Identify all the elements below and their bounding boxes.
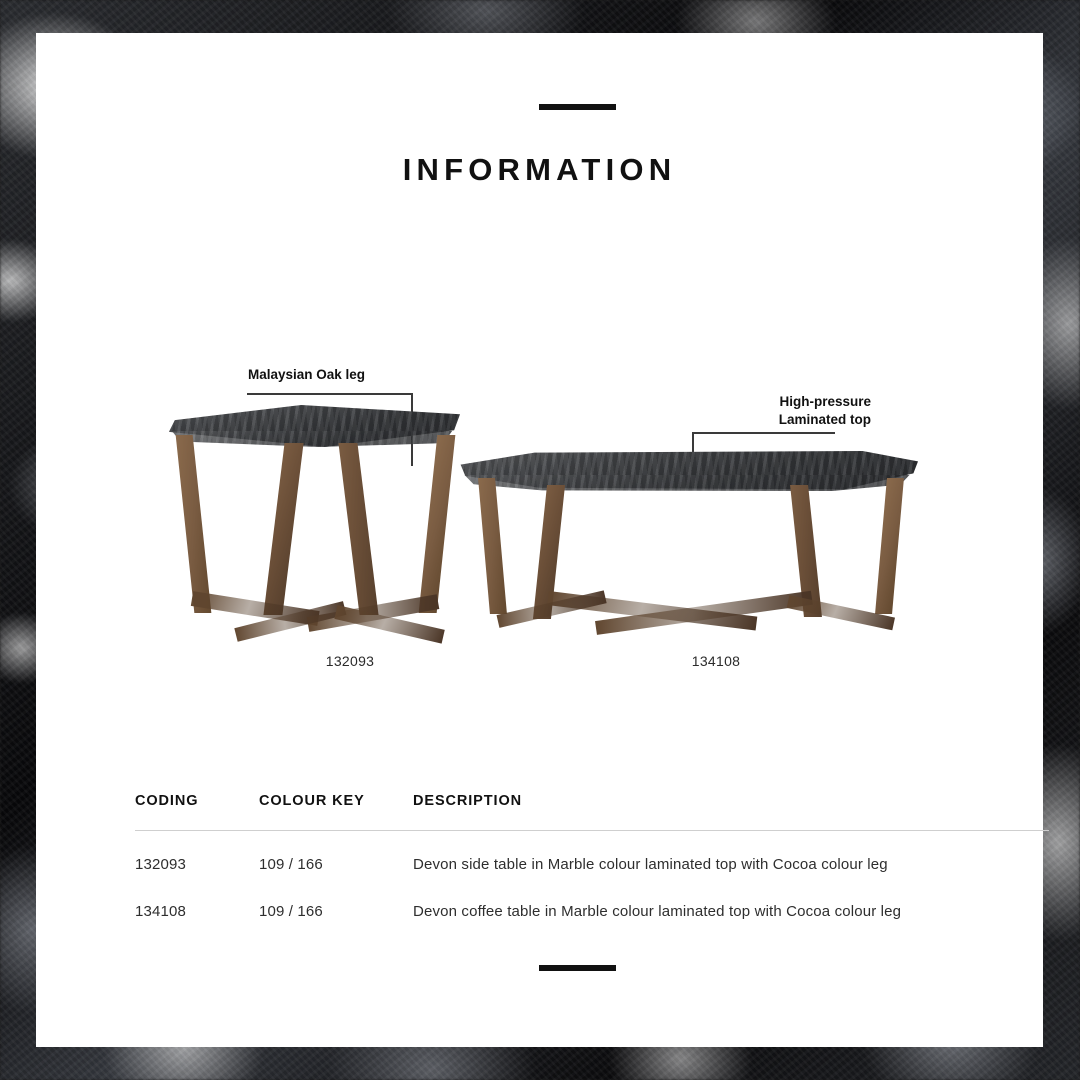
table-row: 134108 109 / 166 Devon coffee table in M…	[135, 903, 1049, 920]
cell-colour-key: 109 / 166	[259, 903, 413, 920]
top-divider-bar	[539, 104, 616, 110]
bottom-divider-bar	[539, 965, 616, 971]
annotation-label-malaysian-oak-leg: Malaysian Oak leg	[248, 366, 365, 384]
caption-134108: 134108	[616, 653, 816, 669]
cell-description: Devon coffee table in Marble colour lami…	[413, 903, 1049, 920]
cell-description: Devon side table in Marble colour lamina…	[413, 856, 1049, 873]
side-table-leg-back-right	[419, 435, 456, 613]
caption-132093: 132093	[250, 653, 450, 669]
cell-coding: 134108	[135, 903, 259, 920]
cell-colour-key: 109 / 166	[259, 856, 413, 873]
table-header-row: CODING COLOUR KEY DESCRIPTION	[135, 793, 1049, 809]
table-divider	[135, 830, 1049, 831]
side-table-leg-front-left	[263, 443, 303, 615]
leader-line-horizontal	[692, 432, 835, 434]
coffee-table-leg-back-left	[478, 478, 507, 614]
leader-line-horizontal	[247, 393, 413, 395]
coffee-table-top-edge	[460, 475, 914, 491]
coffee-table-leg-back-right	[875, 478, 904, 614]
page-title: INFORMATION	[36, 152, 1043, 188]
column-header-colour-key: COLOUR KEY	[259, 793, 413, 809]
annotation-label-line-2: Laminated top	[779, 412, 871, 427]
information-card: INFORMATION Malaysian Oak leg 132	[36, 33, 1043, 1047]
column-header-description: DESCRIPTION	[413, 793, 1049, 809]
annotation-label-high-pressure: High-pressure Laminated top	[676, 393, 871, 429]
table-row: 132093 109 / 166 Devon side table in Mar…	[135, 856, 1049, 873]
annotation-label-line-1: High-pressure	[779, 394, 871, 409]
column-header-coding: CODING	[135, 793, 259, 809]
specification-table: CODING COLOUR KEY DESCRIPTION 132093 109…	[135, 793, 1049, 920]
cell-coding: 132093	[135, 856, 259, 873]
product-figures: Malaysian Oak leg 132093	[36, 323, 1043, 693]
side-table-leg-front-right	[338, 443, 378, 615]
side-table-leg-back-left	[176, 435, 212, 613]
